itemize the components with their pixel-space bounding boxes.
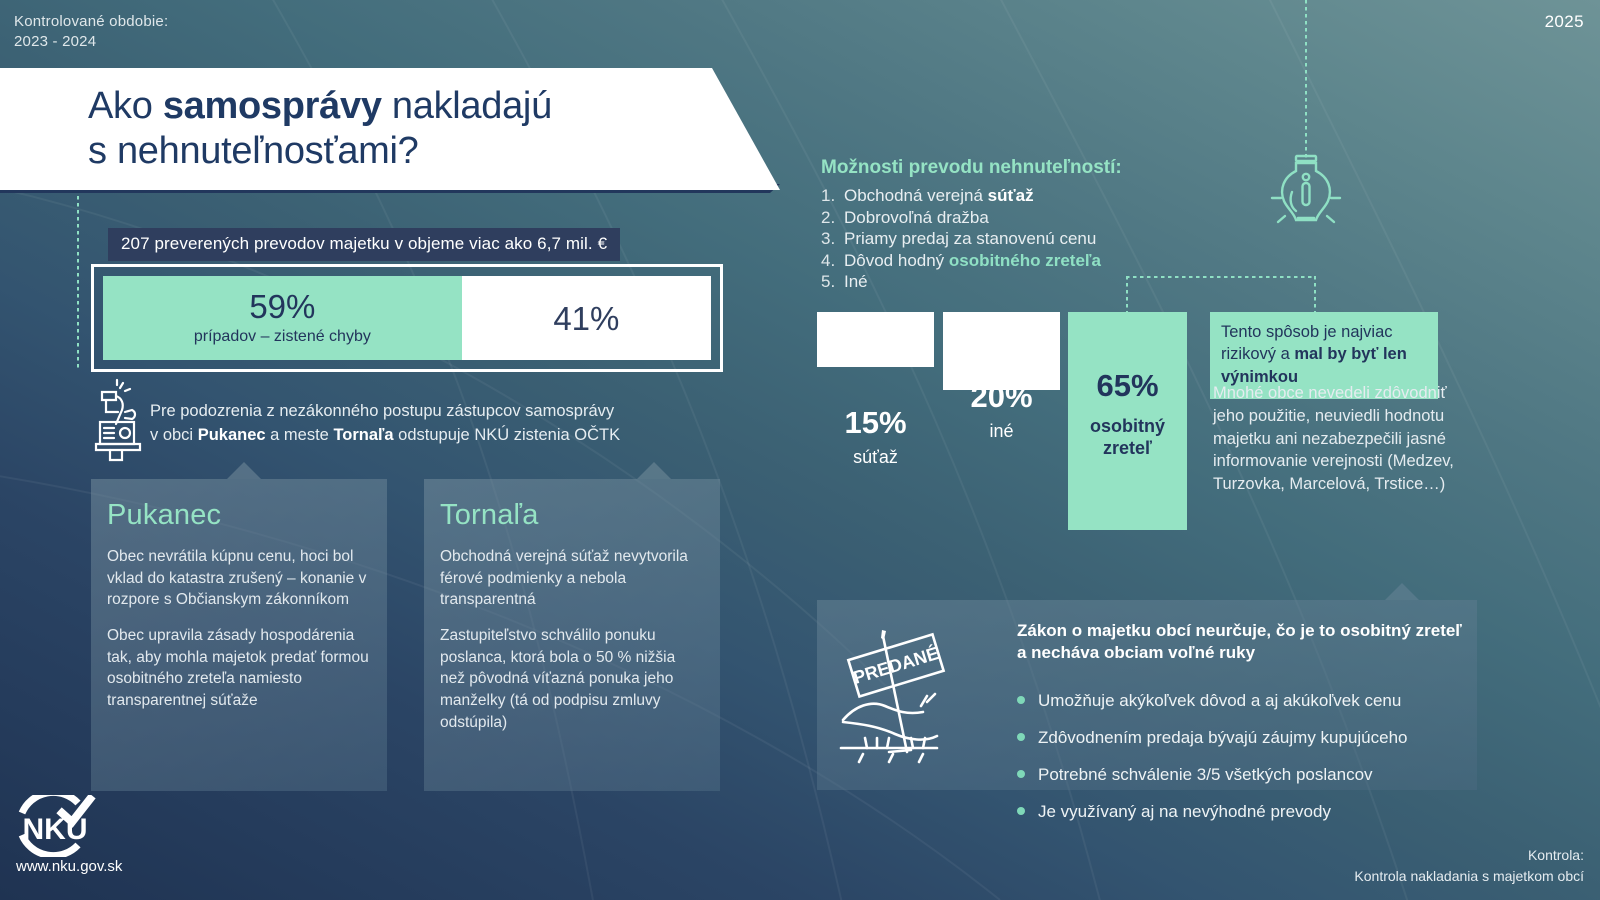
note-municipality-tornala: Tornaľa: [333, 426, 393, 444]
bar-fill-osobitny-zretel: 65% osobitný zreteľ: [1068, 312, 1187, 530]
case-title-tornala: Tornaľa: [440, 499, 720, 532]
bar-label-osobitny-zretel: 65% osobitný zreteľ: [1068, 312, 1187, 459]
case-p2-tornala: Zastupiteľstvo schválilo ponuku poslanca…: [440, 625, 704, 733]
case-p1-pukanec: Obec nevrátila kúpnu cenu, hoci bol vkla…: [107, 546, 371, 611]
sign-text: PREDANÉ: [851, 642, 941, 688]
dotted-connector-to-bar: [1126, 276, 1128, 316]
year-label: 2025: [1545, 12, 1584, 32]
page-title: Ako samosprávy nakladajús nehnuteľnosťam…: [88, 84, 728, 174]
split-left-percent: 59%: [249, 290, 315, 323]
law-bullet-text: Umožňuje akýkoľvek dôvod a aj akúkoľvek …: [1038, 692, 1401, 709]
split-bar-frame: 59% prípadov – zistené chyby 41%: [91, 264, 723, 372]
option-mint-highlight: osobitného zreteľa: [949, 251, 1101, 270]
option-num: 2.: [821, 207, 838, 229]
list-item: 2.Dobrovoľná dražba: [821, 207, 1241, 229]
bar-category-osobitny-zretel: osobitný zreteľ: [1068, 416, 1187, 459]
bullet-dot-icon: [1017, 696, 1025, 704]
website-url[interactable]: www.nku.gov.sk: [16, 858, 122, 875]
note-line-2e: odstupuje NKÚ zistenia OČTK: [394, 426, 621, 444]
bullet-dot-icon: [1017, 770, 1025, 778]
option-bold: súťaž: [988, 186, 1034, 205]
law-bullet-text: Zdôvodnením predaja bývajú záujmy kupujú…: [1038, 729, 1408, 746]
note-municipality-pukanec: Pukanec: [198, 426, 266, 444]
case-card-pukanec: Pukanec Obec nevrátila kúpnu cenu, hoci …: [91, 479, 387, 791]
octk-note: Pre podozrenia z nezákonného postupu zás…: [150, 400, 740, 448]
bulb-cord: [1305, 0, 1307, 160]
bar-fill-suaz: [817, 312, 934, 367]
card-notch-tornala: [637, 462, 671, 479]
card-notch-pukanec: [227, 462, 261, 479]
law-bullet-text: Potrebné schválenie 3/5 všetkých poslanc…: [1038, 766, 1373, 783]
bullet-dot-icon: [1017, 807, 1025, 815]
case-title-pukanec: Pukanec: [107, 499, 387, 532]
case-p2-pukanec: Obec upravila zásady hospodárenia tak, a…: [107, 625, 371, 712]
law-heading: Zákon o majetku obcí neurčuje, čo je to …: [1017, 620, 1467, 665]
bar-group-osobitny-zretel: 65% osobitný zreteľ: [1068, 312, 1187, 530]
list-item: Zdôvodnením predaja bývajú záujmy kupujú…: [1017, 723, 1477, 751]
infographic-canvas: Kontrolované obdobie: 2023 - 2024 2025 A…: [0, 0, 1600, 900]
title-line-2: s nehnuteľnosťami?: [88, 130, 418, 172]
microscope-icon: [92, 378, 150, 463]
law-bullet-text: Je využívaný aj na nevýhodné prevody: [1038, 803, 1331, 820]
status-badge-volume: 207 preverených prevodov majetku v objem…: [108, 228, 620, 261]
list-item: 1.Obchodná verejná súťaž: [821, 185, 1241, 207]
bar-value-ine: 20%: [943, 381, 1060, 412]
dotted-connector-to-callout: [1314, 276, 1316, 312]
bar-category-ine: iné: [943, 421, 1060, 442]
bullet-dot-icon: [1017, 733, 1025, 741]
option-num: 4.: [821, 250, 838, 272]
bar-group-ine: 20% iné: [943, 312, 1060, 530]
controlled-period-label: Kontrolované obdobie: 2023 - 2024: [14, 12, 168, 53]
option-num: 5.: [821, 271, 838, 293]
audit-footer: Kontrola: Kontrola nakladania s majetkom…: [1354, 845, 1584, 886]
option-text: Obchodná verejná: [844, 186, 988, 205]
risk-explanation: Mnohé obce nevedeli zdôvodniť jeho použi…: [1213, 382, 1463, 496]
split-right-percent: 41%: [553, 302, 619, 335]
bar-value-osobitny-zretel: 65%: [1068, 368, 1187, 404]
option-text: Priamy predaj za stanovenú cenu: [844, 228, 1096, 250]
bar-category-suaz: súťaž: [817, 447, 934, 468]
list-item: 4.Dôvod hodný osobitného zreteľa: [821, 250, 1241, 272]
law-bullet-list: Umožňuje akýkoľvek dôvod a aj akúkoľvek …: [1017, 686, 1477, 834]
bar-value-suaz: 15%: [817, 407, 934, 438]
option-text: Iné: [844, 271, 868, 293]
options-title: Možnosti prevodu nehnuteľností:: [821, 157, 1122, 179]
title-part-2: nakladajú: [382, 85, 552, 127]
nku-logo: NKÚ: [16, 795, 96, 857]
logo-text: NKÚ: [23, 812, 88, 846]
title-bold: samosprávy: [163, 85, 382, 127]
note-line-2a: v obci: [150, 426, 198, 444]
bar-label-suaz: 15% súťaž: [817, 407, 934, 468]
bar-label-ine: 20% iné: [943, 381, 1060, 442]
transfer-method-bar-chart: 15% súťaž 20% iné 65% osobitný zreteľ: [817, 312, 1187, 530]
option-num: 3.: [821, 228, 838, 250]
title-banner: Ako samosprávy nakladajús nehnuteľnosťam…: [0, 68, 780, 190]
list-item: 5.Iné: [821, 271, 1241, 293]
case-p1-tornala: Obchodná verejná súťaž nevytvorila férov…: [440, 546, 704, 611]
option-num: 1.: [821, 185, 838, 207]
option-text: Dôvod hodný: [844, 251, 949, 270]
law-panel-notch: [1385, 583, 1419, 600]
bar-group-suaz: 15% súťaž: [817, 312, 934, 530]
split-left-caption: prípadov – zistené chyby: [194, 328, 371, 346]
list-item: Potrebné schválenie 3/5 všetkých poslanc…: [1017, 760, 1477, 788]
lightbulb-icon: [1258, 150, 1354, 240]
list-item: Umožňuje akýkoľvek dôvod a aj akúkoľvek …: [1017, 686, 1477, 714]
note-line-1: Pre podozrenia z nezákonného postupu zás…: [150, 402, 614, 420]
split-bar-errors: 59% prípadov – zistené chyby: [103, 276, 462, 360]
split-bar-ok: 41%: [462, 276, 711, 360]
list-item: Je využívaný aj na nevýhodné prevody: [1017, 797, 1477, 825]
title-part-1: Ako: [88, 85, 163, 127]
sold-sign-icon: PREDANÉ: [837, 622, 997, 770]
list-item: 3.Priamy predaj za stanovenú cenu: [821, 228, 1241, 250]
dotted-connector-horizontal: [1126, 276, 1316, 278]
law-panel: PREDANÉ Zákon o majetku obcí neurčuje, č…: [817, 600, 1477, 790]
case-card-tornala: Tornaľa Obchodná verejná súťaž nevytvori…: [424, 479, 720, 791]
option-text: Dobrovoľná dražba: [844, 207, 989, 229]
note-line-2c: a meste: [266, 426, 334, 444]
